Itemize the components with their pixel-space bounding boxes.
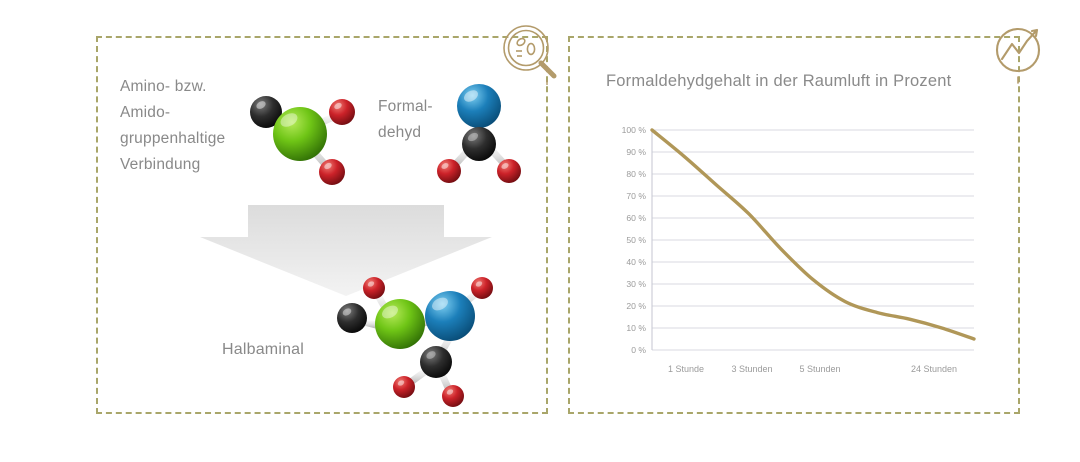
ytick: 100 % <box>622 125 647 135</box>
halbaminal-molecule <box>326 272 510 406</box>
chart-gridlines <box>652 130 974 350</box>
xtick: 24 Stunden <box>911 364 957 374</box>
trend-circle-icon <box>988 22 1052 86</box>
xtick: 3 Stunden <box>731 364 772 374</box>
ytick: 80 % <box>626 169 646 179</box>
ytick: 20 % <box>626 301 646 311</box>
chart-series-line <box>652 130 974 339</box>
ytick: 90 % <box>626 147 646 157</box>
ytick: 0 % <box>631 345 646 355</box>
ytick: 70 % <box>626 191 646 201</box>
formaldehyde-molecule <box>434 72 522 188</box>
amino-compound-molecule <box>238 82 368 194</box>
chart-y-ticks: 100 % 90 % 80 % 70 % 60 % 50 % 40 % 30 %… <box>622 125 647 355</box>
ytick: 40 % <box>626 257 646 267</box>
chart-title: Formaldehydgehalt in der Raumluft in Pro… <box>606 72 951 91</box>
xtick: 1 Stunde <box>668 364 704 374</box>
formaldehyde-decay-chart: 100 % 90 % 80 % 70 % 60 % 50 % 40 % 30 %… <box>604 118 996 378</box>
ytick: 10 % <box>626 323 646 333</box>
ytick: 60 % <box>626 213 646 223</box>
ytick: 30 % <box>626 279 646 289</box>
ytick: 50 % <box>626 235 646 245</box>
xtick: 5 Stunden <box>799 364 840 374</box>
slide-canvas: Amino- bzw. Amido- gruppenhaltige Verbin… <box>0 0 1080 462</box>
chart-x-ticks: 1 Stunde 3 Stunden 5 Stunden 24 Stunden <box>668 364 957 374</box>
